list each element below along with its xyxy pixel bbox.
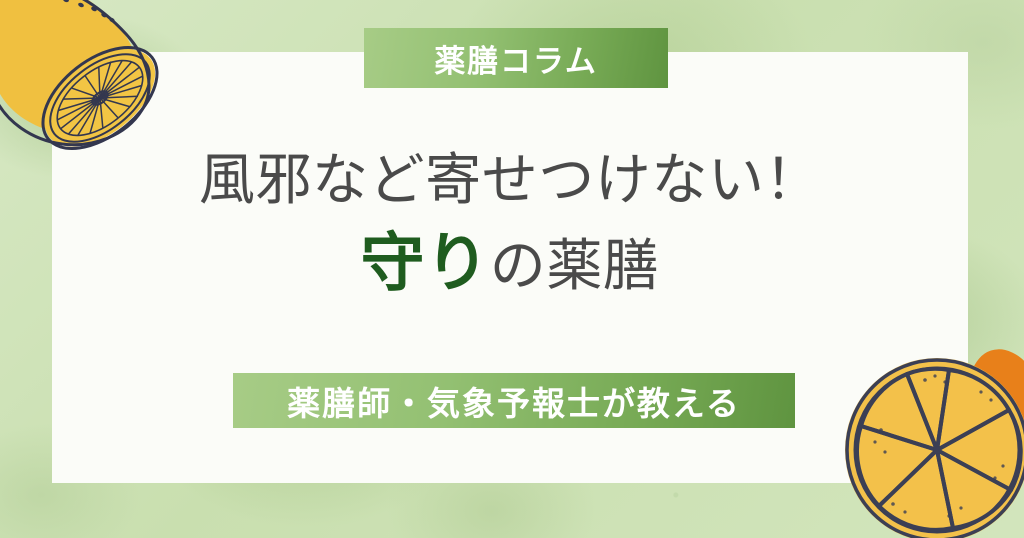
headline-line-2: 守りの薬膳 xyxy=(52,229,968,301)
headline-block: 風邪など寄せつけない！ 守りの薬膳 xyxy=(52,150,968,300)
tag-banner-bottom-label: 薬膳師・気象予報士が教える xyxy=(287,377,741,425)
headline-accent-text: 守り xyxy=(361,227,490,301)
tag-banner-bottom: 薬膳師・気象予報士が教える xyxy=(233,373,795,428)
tag-banner-top-label: 薬膳コラム xyxy=(434,36,597,81)
headline-line-1: 風邪など寄せつけない！ xyxy=(52,150,968,213)
promo-banner: 薬膳コラム 風邪など寄せつけない！ 守りの薬膳 薬膳師・気象予報士が教える xyxy=(0,0,1024,538)
tag-banner-top: 薬膳コラム xyxy=(364,28,668,88)
headline-rest-text: の薬膳 xyxy=(490,234,660,299)
